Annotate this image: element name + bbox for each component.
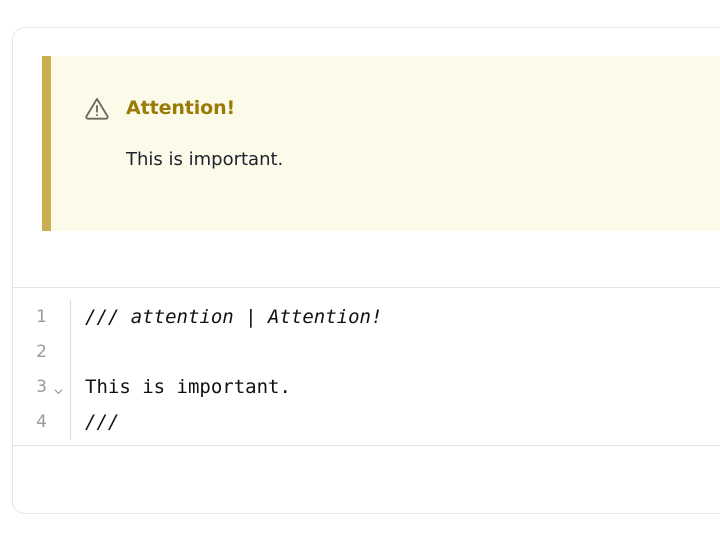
warning-triangle-icon	[83, 94, 111, 122]
gutter-row[interactable]: 3	[13, 370, 70, 405]
fold-spacer	[52, 346, 65, 359]
code-editor[interactable]: 1 2 3 4	[13, 288, 720, 457]
gutter-row[interactable]: 4	[13, 405, 70, 440]
fold-spacer	[52, 416, 65, 429]
callout-body-text: This is important.	[51, 122, 720, 172]
code-line[interactable]: /// attention | Attention!	[85, 300, 720, 335]
code-line[interactable]: ///	[85, 405, 720, 440]
gutter-row[interactable]: 1	[13, 300, 70, 335]
fold-spacer	[52, 311, 65, 324]
code-line[interactable]: This is important.	[85, 370, 720, 405]
attention-callout: Attention! This is important.	[42, 56, 720, 231]
line-number: 2	[36, 344, 47, 361]
line-number: 4	[36, 414, 47, 431]
card-footer	[13, 457, 720, 513]
code-lines[interactable]: /// attention | Attention! This is impor…	[71, 300, 720, 440]
callout-title-row: Attention!	[51, 56, 720, 122]
code-area[interactable]: 1 2 3 4	[13, 300, 720, 440]
code-line[interactable]	[85, 335, 720, 370]
callout-title: Attention!	[126, 99, 235, 118]
chevron-down-icon[interactable]	[52, 383, 65, 396]
line-number: 3	[36, 379, 47, 396]
editor-bottom-divider	[13, 445, 720, 446]
preview-pane: Attention! This is important.	[13, 28, 720, 287]
gutter-row[interactable]: 2	[13, 335, 70, 370]
content-card: Attention! This is important. 1 2 3	[12, 27, 720, 514]
line-number: 1	[36, 309, 47, 326]
line-number-gutter[interactable]: 1 2 3 4	[13, 300, 71, 440]
